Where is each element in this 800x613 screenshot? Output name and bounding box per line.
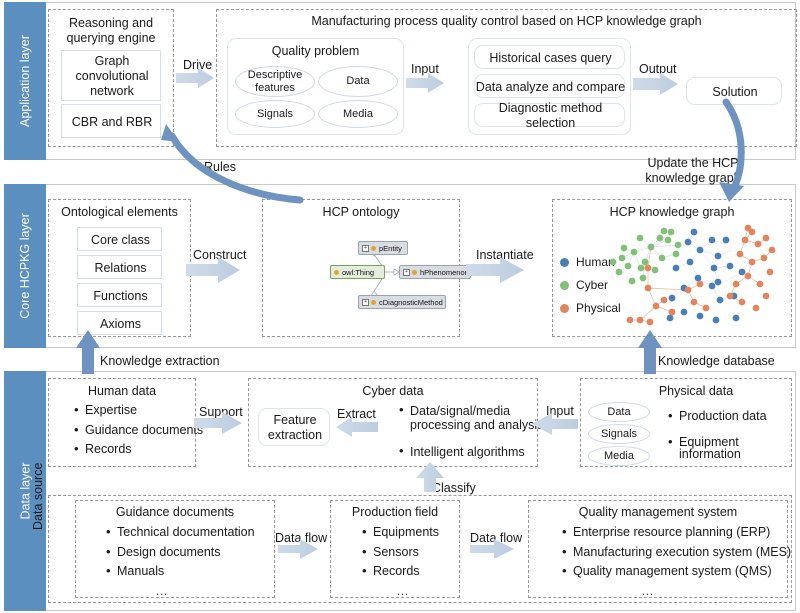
relations-label: Relations [78, 256, 163, 280]
list-item: Sensors [362, 546, 448, 559]
source-ellipsis-1: … [358, 585, 448, 598]
gcn-box[interactable]: Graph convolutional network [61, 50, 161, 101]
task-diagnostic-method-selection[interactable]: Diagnostic method selection [474, 103, 625, 127]
quality-item-descriptive-features[interactable]: Descriptive features [235, 66, 315, 97]
legend-dot-physical-icon [560, 304, 569, 313]
legend-dot-cyber-icon [560, 281, 569, 290]
list-item: Equipment information [668, 436, 800, 461]
reasoning-engine-title: Reasoning and querying engine [58, 16, 164, 46]
list-item: Equipments [362, 526, 448, 539]
onto-node-label-0: pEntity [379, 244, 402, 253]
onto-node-pentity[interactable]: + pEntity [358, 241, 408, 255]
legend-dot-human-icon [560, 258, 569, 267]
feature-extraction-label: Feature extraction [259, 409, 331, 447]
physical-ellipse-signals[interactable]: Signals [588, 424, 650, 444]
data-source-label: Data source [31, 463, 45, 530]
core-class-label: Core class [78, 228, 163, 252]
list-item: Manufacturing execution system (MES) [562, 546, 791, 559]
instantiate-label: Instantiate [476, 248, 534, 262]
onto-node-cdiagnosticmethod[interactable]: + cDiagnosticMethod [358, 295, 446, 309]
legend-item-cyber: Cyber [560, 278, 621, 292]
layer-tab-core: Core HCPKG layer [4, 184, 46, 348]
list-item: Design documents [106, 546, 255, 559]
cyber-data-list: Data/signal/media processing and analysi… [385, 404, 549, 466]
axioms-label: Axioms [78, 312, 163, 336]
quality-problem-title: Quality problem [227, 44, 404, 58]
drive-label: Drive [183, 58, 212, 72]
legend-item-human: Human [560, 255, 621, 269]
layer-label-data: Data layer [18, 463, 32, 520]
source-title-2: Quality management system [528, 505, 788, 519]
physical-ellipse-data[interactable]: Data [588, 402, 650, 422]
classify-label: Classify [432, 481, 476, 495]
support-label: Support [199, 405, 243, 419]
onto-node-label-2: cDiagnosticMethod [379, 298, 443, 307]
onto-bullet-icon [412, 270, 417, 275]
extract-label: Extract [337, 407, 376, 421]
source-list-2: Enterprise resource planning (ERP) Manuf… [548, 526, 791, 604]
quality-item-data[interactable]: Data [318, 66, 398, 97]
list-item: Data/signal/media processing and analysi… [399, 404, 549, 433]
data-flow-label-1: Data flow [275, 531, 327, 545]
data-flow-label-2: Data flow [470, 531, 522, 545]
hcp-knowledge-graph-title: HCP knowledge graph [552, 205, 792, 219]
source-list-1: Equipments Sensors Records … [348, 526, 448, 604]
core-class-box[interactable]: Core class [77, 227, 162, 251]
list-item: Records [74, 443, 203, 456]
input-label-application: Input [411, 62, 439, 76]
update-hcp-label: Update the HCP knowledge graph [628, 156, 758, 186]
source-ellipsis-2: … [558, 585, 738, 598]
relations-box[interactable]: Relations [77, 255, 162, 279]
ontological-elements-title: Ontological elements [48, 205, 191, 219]
legend-label-cyber: Cyber [576, 278, 608, 292]
list-item: Manuals [106, 565, 255, 578]
source-title-0: Guidance documents [75, 505, 275, 519]
layer-tab-application: Application layer [4, 2, 46, 160]
onto-bullet-icon [371, 246, 376, 251]
task-data-analyze-compare[interactable]: Data analyze and compare [474, 74, 625, 98]
list-item: Expertise [74, 404, 203, 417]
legend-item-physical: Physical [560, 301, 621, 315]
onto-bullet-icon [371, 300, 376, 305]
knowledge-extraction-label: Knowledge extraction [100, 354, 220, 368]
source-ellipsis-0: … [102, 585, 222, 598]
output-label: Output [639, 62, 677, 76]
gcn-label: Graph convolutional network [62, 51, 162, 102]
knowledge-database-label: Knowledge database [658, 354, 775, 368]
source-list-0: Technical documentation Design documents… [92, 526, 255, 604]
functions-box[interactable]: Functions [77, 283, 162, 307]
onto-node-label-1: hPhenomenon [420, 268, 469, 277]
list-item: Enterprise resource planning (ERP) [562, 526, 791, 539]
physical-data-list: Production data Equipment information [654, 410, 800, 468]
onto-node-owl-thing[interactable]: owl:Thing [330, 265, 385, 279]
list-item: Records [362, 565, 448, 578]
cbr-rbr-label: CBR and RBR [62, 105, 162, 139]
functions-label: Functions [78, 284, 163, 308]
human-data-title: Human data [48, 384, 196, 398]
solution-box[interactable]: Solution [686, 77, 782, 105]
onto-node-label-root: owl:Thing [342, 268, 374, 277]
axioms-box[interactable]: Axioms [77, 311, 162, 335]
cyber-data-title: Cyber data [248, 384, 538, 398]
physical-ellipse-media[interactable]: Media [588, 446, 650, 466]
hcp-ontology-title: HCP ontology [262, 205, 460, 219]
process-title: Manufacturing process quality control ba… [216, 14, 797, 28]
input-label-data: Input [546, 404, 574, 418]
source-title-1: Production field [330, 505, 460, 519]
list-item: Intelligent algorithms [399, 445, 549, 459]
layer-label-application: Application layer [18, 35, 32, 127]
legend-label-physical: Physical [576, 301, 621, 315]
feature-extraction-box[interactable]: Feature extraction [258, 408, 330, 446]
task-label-2: Diagnostic method selection [475, 104, 626, 128]
legend-label-human: Human [576, 255, 615, 269]
onto-node-hphenomenon[interactable]: + hPhenomenon [399, 265, 471, 279]
list-item: Guidance documents [74, 424, 203, 437]
kg-legend: Human Cyber Physical [560, 255, 621, 324]
task-historical-cases-query[interactable]: Historical cases query [474, 45, 625, 69]
quality-item-media[interactable]: Media [318, 100, 398, 128]
expand-icon[interactable]: + [362, 299, 369, 306]
rules-label: Rules [204, 160, 236, 174]
physical-data-title: Physical data [600, 384, 792, 398]
task-label-1: Data analyze and compare [475, 75, 626, 99]
human-data-list: Expertise Guidance documents Records [60, 404, 203, 463]
quality-item-signals[interactable]: Signals [235, 100, 315, 128]
expand-icon[interactable]: + [362, 245, 369, 252]
layer-label-core: Core HCPKG layer [18, 213, 32, 319]
solution-label: Solution [687, 78, 783, 106]
list-item: Production data [668, 410, 800, 423]
construct-label: Construct [193, 248, 247, 262]
task-label-0: Historical cases query [475, 46, 626, 70]
list-item: Quality management system (QMS) [562, 565, 791, 578]
onto-bullet-icon [334, 270, 339, 275]
expand-icon[interactable]: + [403, 269, 410, 276]
list-item: Technical documentation [106, 526, 255, 539]
cbr-rbr-box[interactable]: CBR and RBR [61, 104, 161, 138]
